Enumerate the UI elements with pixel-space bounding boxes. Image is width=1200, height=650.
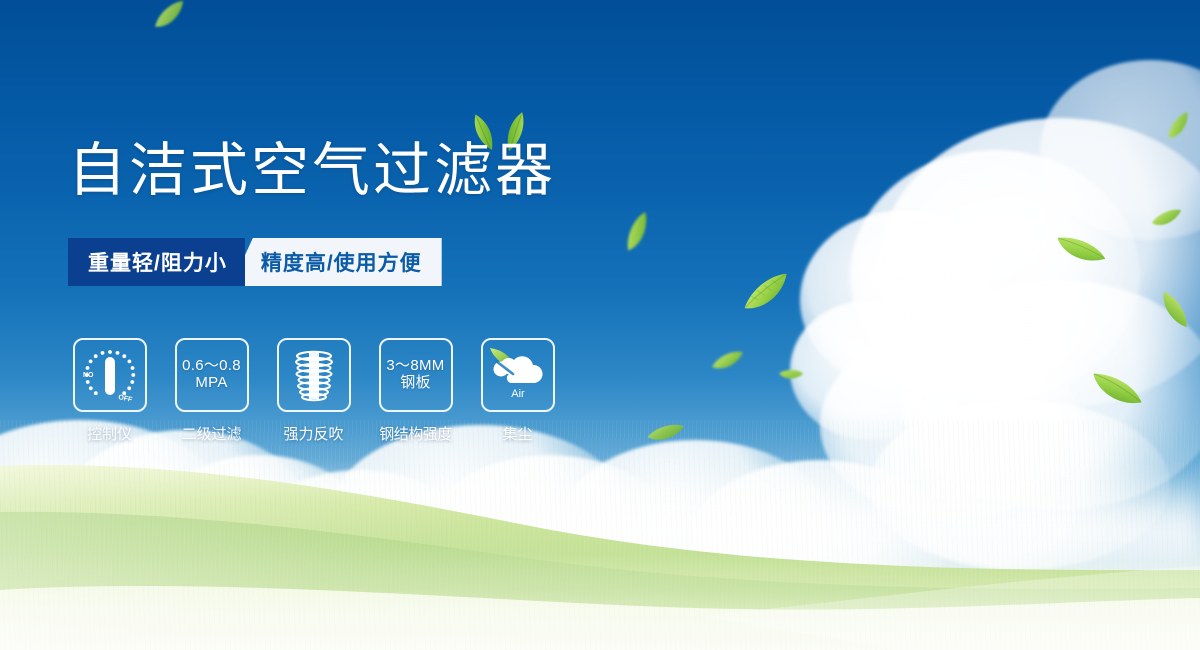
feature-label: 控制仪 [87, 423, 132, 444]
control-dial-icon: NO OFF [79, 344, 141, 406]
steel-plate-line1: 3〜8MM [386, 358, 444, 375]
feature-item-control-dial[interactable]: NO OFF 控制仪 [72, 338, 147, 444]
pressure-value-icon: 0.6〜0.8 MPA [182, 358, 241, 392]
feature-label: 集尘 [502, 423, 532, 444]
air-cloud-label: Air [511, 388, 525, 400]
banner-content: 自洁式空气过滤器 重量轻/阻力小 精度高/使用方便 [0, 0, 1200, 650]
subtitle-bar: 重量轻/阻力小 精度高/使用方便 [68, 238, 460, 286]
svg-text:OFF: OFF [117, 394, 133, 404]
steel-plate-line2: 钢板 [386, 375, 444, 392]
hero-banner: 自洁式空气过滤器 重量轻/阻力小 精度高/使用方便 [0, 0, 1200, 650]
feature-icon-box: 3〜8MM 钢板 [379, 338, 453, 412]
feature-label: 强力反吹 [283, 423, 343, 444]
feature-icon-box [277, 338, 351, 412]
feature-icon-box: 0.6〜0.8 MPA [175, 338, 249, 412]
feature-label: 二级过滤 [181, 423, 241, 444]
svg-text:NO: NO [83, 372, 94, 379]
feature-item-backblow[interactable]: 强力反吹 [276, 338, 351, 444]
pressure-value-line2: MPA [182, 375, 241, 392]
subtitle-segment-left: 重量轻/阻力小 [68, 238, 245, 286]
page-title: 自洁式空气过滤器 [68, 142, 556, 200]
feature-item-dust-collection[interactable]: Air 集尘 [480, 338, 555, 444]
filter-cartridge-icon [286, 347, 342, 403]
feature-label: 钢结构强度 [379, 423, 452, 444]
feature-icon-box: Air [481, 338, 555, 412]
pressure-value-line1: 0.6〜0.8 [182, 358, 241, 375]
feature-list: NO OFF 控制仪 0.6〜0.8 MPA 二级过滤 [72, 338, 555, 444]
feature-icon-box: NO OFF [73, 338, 147, 412]
subtitle-segment-right: 精度高/使用方便 [231, 238, 442, 286]
air-cloud-icon: Air [487, 344, 549, 406]
feature-item-steel[interactable]: 3〜8MM 钢板 钢结构强度 [378, 338, 453, 444]
feature-item-pressure[interactable]: 0.6〜0.8 MPA 二级过滤 [174, 338, 249, 444]
steel-plate-icon: 3〜8MM 钢板 [386, 358, 444, 392]
